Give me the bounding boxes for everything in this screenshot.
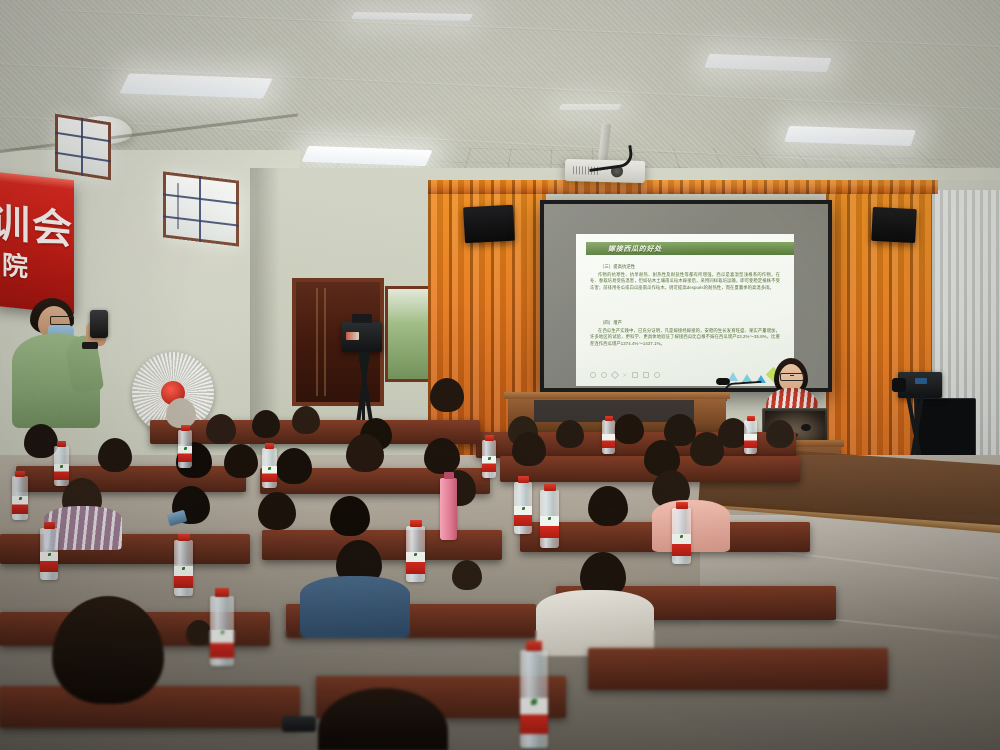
audience-head [556, 420, 584, 448]
nongfu-leaf-icon [19, 497, 22, 500]
glasses-bridge [790, 375, 794, 376]
audience-head-foreground [186, 620, 212, 646]
audience-head [24, 424, 58, 458]
door-panel-line [324, 288, 326, 396]
audience-torso-pink [652, 500, 730, 552]
audience-torso-blue [300, 576, 410, 638]
bottle-cap [747, 416, 755, 421]
bottle-cap [410, 520, 422, 527]
audience-head [276, 448, 312, 484]
audience-head [206, 414, 236, 444]
audience-head [430, 378, 464, 412]
front-table-top [504, 392, 730, 399]
nongfu-leaf-icon [221, 631, 224, 634]
nongfu-leaf-icon [182, 567, 185, 570]
bottle-cap [485, 435, 494, 441]
bottle-cap [215, 588, 229, 597]
water-bottle[interactable] [178, 430, 192, 468]
bottle-label [262, 466, 277, 482]
door-panel-line [316, 288, 318, 396]
nongfu-leaf-icon [488, 457, 491, 460]
water-bottle[interactable] [672, 508, 691, 564]
bench-row-5c [588, 648, 888, 690]
audience-head [252, 410, 280, 438]
microphone-capsule-icon [716, 378, 730, 385]
nongfu-leaf-icon [184, 447, 187, 450]
nongfu-leaf-icon [48, 553, 51, 556]
water-bottle[interactable] [262, 448, 277, 488]
bottle-cap [526, 641, 542, 651]
audience-head [330, 496, 370, 536]
dslr-lens [892, 378, 906, 392]
water-bottle[interactable] [40, 528, 58, 580]
audience-head [166, 398, 196, 428]
water-bottle[interactable] [54, 446, 69, 486]
audience-head [292, 406, 320, 434]
bottle-label [602, 434, 615, 448]
water-bottle[interactable] [12, 476, 28, 520]
bottle-label [540, 516, 559, 538]
cat-eye-right [801, 424, 811, 431]
window-right-of-door [385, 286, 431, 382]
audience-head [98, 438, 132, 472]
operator-glasses-icon [50, 316, 74, 325]
ceiling-panel-light [559, 104, 622, 110]
audience-head [452, 560, 482, 590]
bottle-cap [605, 416, 613, 421]
camera-operator-group [6, 296, 116, 428]
bench-row-5 [0, 686, 300, 728]
wall-speaker-left [463, 205, 515, 244]
bottle-label [54, 464, 69, 480]
bottle-label [482, 456, 496, 472]
water-bottle[interactable] [540, 490, 559, 548]
bottle-label [672, 534, 691, 556]
audience-head [614, 414, 644, 444]
bottle-label [744, 434, 757, 448]
nongfu-leaf-icon [60, 465, 63, 468]
audience-head [224, 444, 258, 478]
water-bottle[interactable] [482, 440, 496, 478]
dslr-screen-icon [915, 378, 927, 384]
smartphone-camera[interactable] [90, 310, 108, 338]
video-camera-screen-icon [346, 332, 359, 340]
nongfu-leaf-icon [268, 467, 271, 470]
bottle-cap [676, 502, 688, 509]
bottle-label [210, 630, 234, 658]
audience-head [258, 492, 296, 530]
wall-speaker-right [871, 207, 917, 243]
bottle-label [514, 506, 532, 526]
bottle-cap [181, 425, 190, 431]
bottle-cap [265, 443, 274, 449]
bottle-label [174, 566, 193, 588]
bottle-cap [518, 476, 529, 483]
audience-head [424, 438, 460, 474]
bottle-label [40, 552, 58, 572]
window-left-main [163, 171, 239, 246]
video-camera-viewfinder [352, 314, 372, 323]
water-bottle-pink[interactable] [440, 478, 457, 540]
operator-wristwatch [82, 342, 98, 349]
water-bottle[interactable] [210, 596, 234, 666]
water-bottle[interactable] [602, 420, 615, 454]
red-overhead-banner: 训会 院 [0, 176, 74, 314]
window-left-upper [55, 114, 111, 181]
audience-head [690, 432, 724, 466]
bench-row-3 [0, 534, 250, 564]
bottle-cap [44, 522, 55, 529]
nongfu-leaf-icon [548, 517, 551, 520]
water-bottle[interactable] [744, 420, 757, 454]
bottle-cap [15, 471, 25, 477]
audience-head [346, 434, 384, 472]
nongfu-leaf-icon [522, 507, 525, 510]
water-bottle[interactable] [514, 482, 532, 534]
bottle-cap [178, 534, 190, 541]
bench-row-3b [262, 530, 502, 560]
banner-text-line2: 院 [2, 245, 28, 285]
curtain-valance [428, 180, 938, 194]
bottle-label [406, 552, 425, 574]
nongfu-leaf-icon [531, 699, 537, 705]
bottle-cap [544, 484, 556, 491]
bottle-cap [57, 441, 66, 447]
lecture-hall-photograph: 训会 院 嫁接西瓜的好处 （三）提高抗逆性 作物的抗寒性、抗旱耐热、耐热性及耐盐… [0, 0, 1000, 750]
nongfu-leaf-icon [680, 535, 683, 538]
audience-torso-white [536, 590, 654, 656]
water-bottle[interactable] [174, 540, 193, 596]
audience-smartphone[interactable] [282, 716, 316, 732]
audience-head [512, 432, 546, 466]
bottle-cap [444, 472, 454, 479]
bottle-label [520, 698, 548, 734]
water-bottle[interactable] [406, 526, 425, 582]
audience-head [588, 486, 628, 526]
bench-row-2 [16, 466, 246, 492]
nongfu-leaf-icon [414, 553, 417, 556]
bottle-label [12, 496, 28, 514]
water-bottle[interactable] [520, 650, 548, 748]
audience-head [766, 420, 794, 448]
bottle-label [178, 446, 192, 462]
